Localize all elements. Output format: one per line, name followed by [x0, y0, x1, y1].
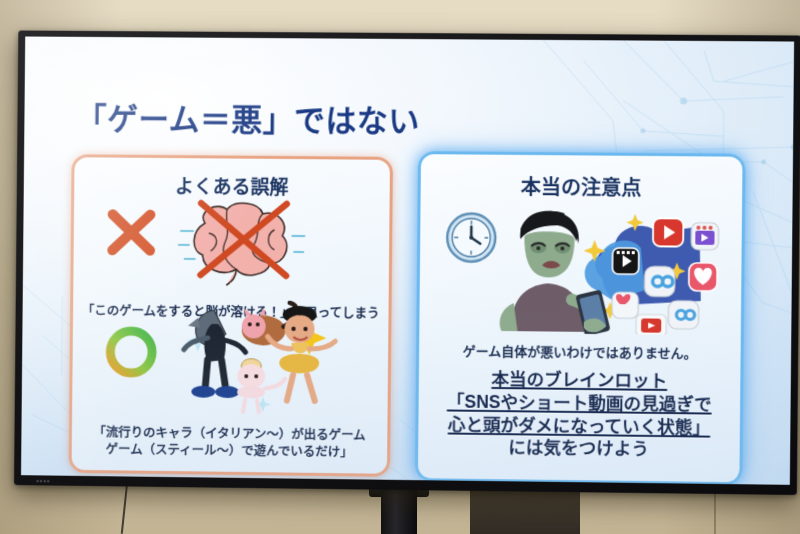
right-panel-text-block: ゲーム自体が悪いわけではありません。 本当のブレインロット 「SNSやショート動… — [424, 340, 735, 462]
panel-common-misconception: よくある誤解 — [69, 154, 393, 477]
right-lead-text: ゲーム自体が悪いわけではありません。 — [425, 340, 735, 362]
panel-right-header: 本当の注意点 — [421, 170, 743, 202]
right-closing-line: には気をつけよう — [424, 435, 734, 462]
cross-mark-icon — [101, 202, 161, 262]
caption-trend: 「流行りのキャラ（イタリアン〜）が出るゲーム ゲーム（スティール〜）で遊んでいる… — [80, 424, 380, 461]
brain-illustration — [175, 193, 310, 290]
television: ●●●● — [14, 30, 800, 495]
panel-real-cautions: 本当の注意点 — [415, 151, 746, 485]
tv-screen: 「ゲーム＝悪」ではない よくある誤解 — [21, 36, 794, 484]
tv-brand-logo: ●●●● — [36, 478, 50, 484]
tv-bezel: ●●●● — [14, 30, 800, 495]
right-emphasis-line-2: 「SNSやショート動画の見過ぎで — [425, 390, 735, 416]
right-emphasis-line-3: 心と頭がダメになっていく状態」 — [424, 413, 734, 439]
caption-trend-line-2: ゲーム（スティール〜）で遊んでいるだけ」 — [80, 441, 380, 461]
power-cable — [121, 484, 128, 534]
meme-characters-illustration — [167, 300, 367, 420]
page-title: 「ゲーム＝悪」ではない — [76, 94, 420, 142]
tired-person-illustration — [483, 203, 723, 336]
room-scene: ●●●● — [0, 0, 800, 534]
circle-mark-icon — [102, 323, 160, 381]
